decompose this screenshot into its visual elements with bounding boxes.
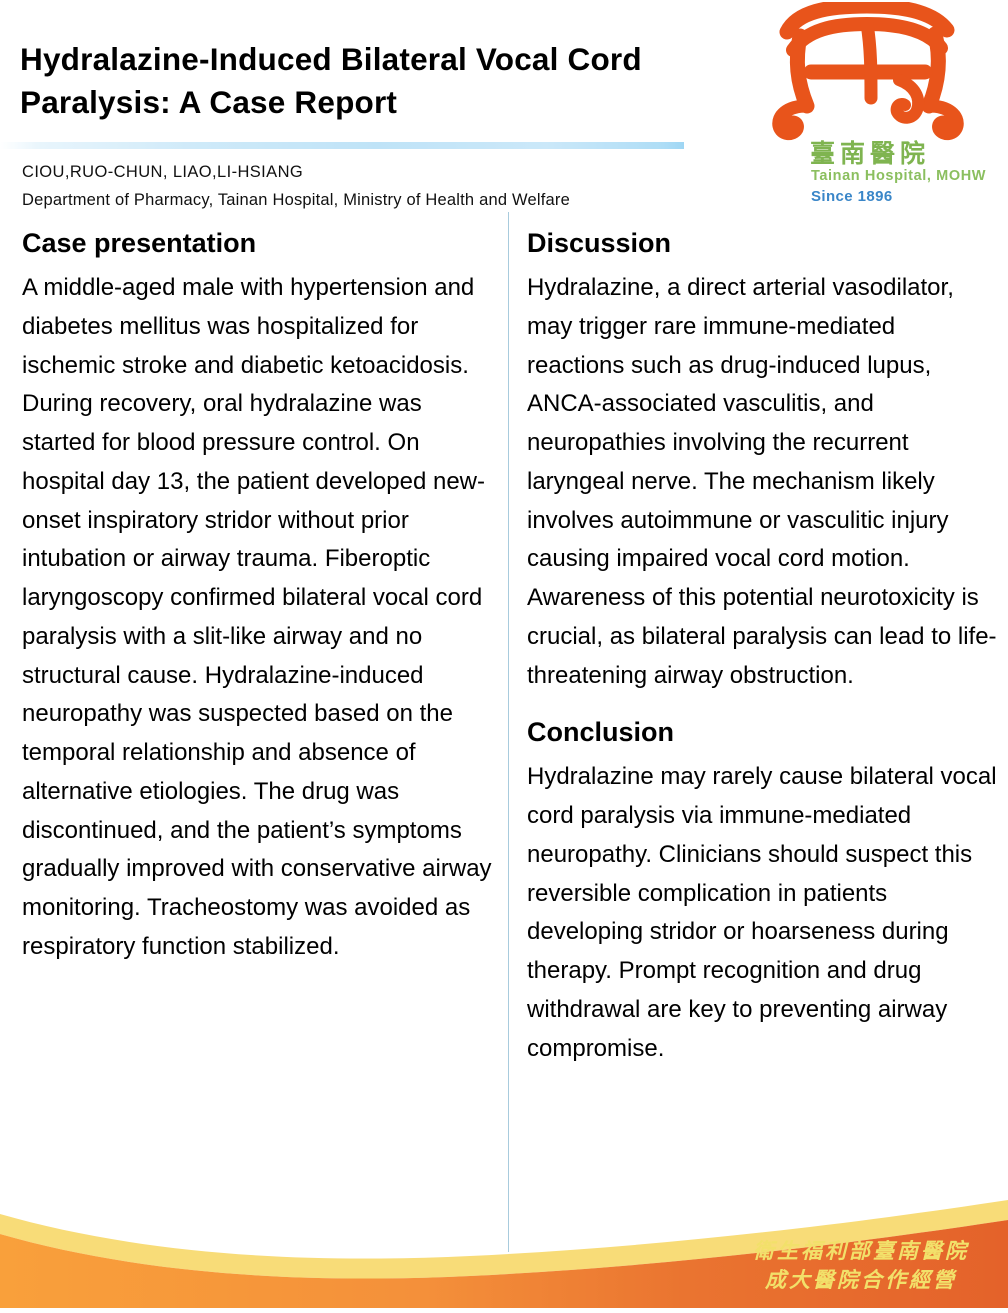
- conclusion-heading: Conclusion: [527, 717, 997, 748]
- hospital-logo: 臺南醫院 Tainan Hospital, MOHW Since 1896: [762, 0, 1008, 215]
- footer-line-1: 衛生福利部臺南醫院: [726, 1237, 996, 1265]
- section-case-presentation: Case presentation A middle-aged male wit…: [22, 228, 492, 967]
- affiliation-text: Department of Pharmacy, Tainan Hospital,…: [22, 191, 570, 210]
- left-column: Case presentation A middle-aged male wit…: [22, 228, 492, 967]
- discussion-body: Hydralazine, a direct arterial vasodilat…: [527, 269, 997, 695]
- bottom-decorative-wave: 衛生福利部臺南醫院 成大醫院合作經營: [0, 1198, 1008, 1308]
- logo-since-text: Since 1896: [811, 188, 893, 205]
- logo-chinese-name: 臺南醫院: [810, 134, 930, 170]
- right-column: Discussion Hydralazine, a direct arteria…: [527, 228, 997, 1068]
- case-presentation-heading: Case presentation: [22, 228, 492, 259]
- footer-line-2: 成大醫院合作經營: [726, 1266, 996, 1294]
- discussion-heading: Discussion: [527, 228, 997, 259]
- title-divider-rule: [0, 142, 684, 149]
- page-title: Hydralazine-Induced Bilateral Vocal Cord…: [20, 38, 700, 125]
- section-conclusion: Conclusion Hydralazine may rarely cause …: [527, 717, 997, 1068]
- column-divider: [508, 212, 509, 1252]
- logo-english-name: Tainan Hospital, MOHW: [811, 168, 986, 184]
- tainan-hospital-emblem-icon: [767, 2, 967, 142]
- footer-organization-text: 衛生福利部臺南醫院 成大醫院合作經營: [726, 1237, 996, 1294]
- author-list: CIOU,RUO-CHUN, LIAO,LI-HSIANG: [22, 163, 303, 182]
- conclusion-body: Hydralazine may rarely cause bilateral v…: [527, 758, 997, 1068]
- section-discussion: Discussion Hydralazine, a direct arteria…: [527, 228, 997, 695]
- case-presentation-body: A middle-aged male with hypertension and…: [22, 269, 492, 967]
